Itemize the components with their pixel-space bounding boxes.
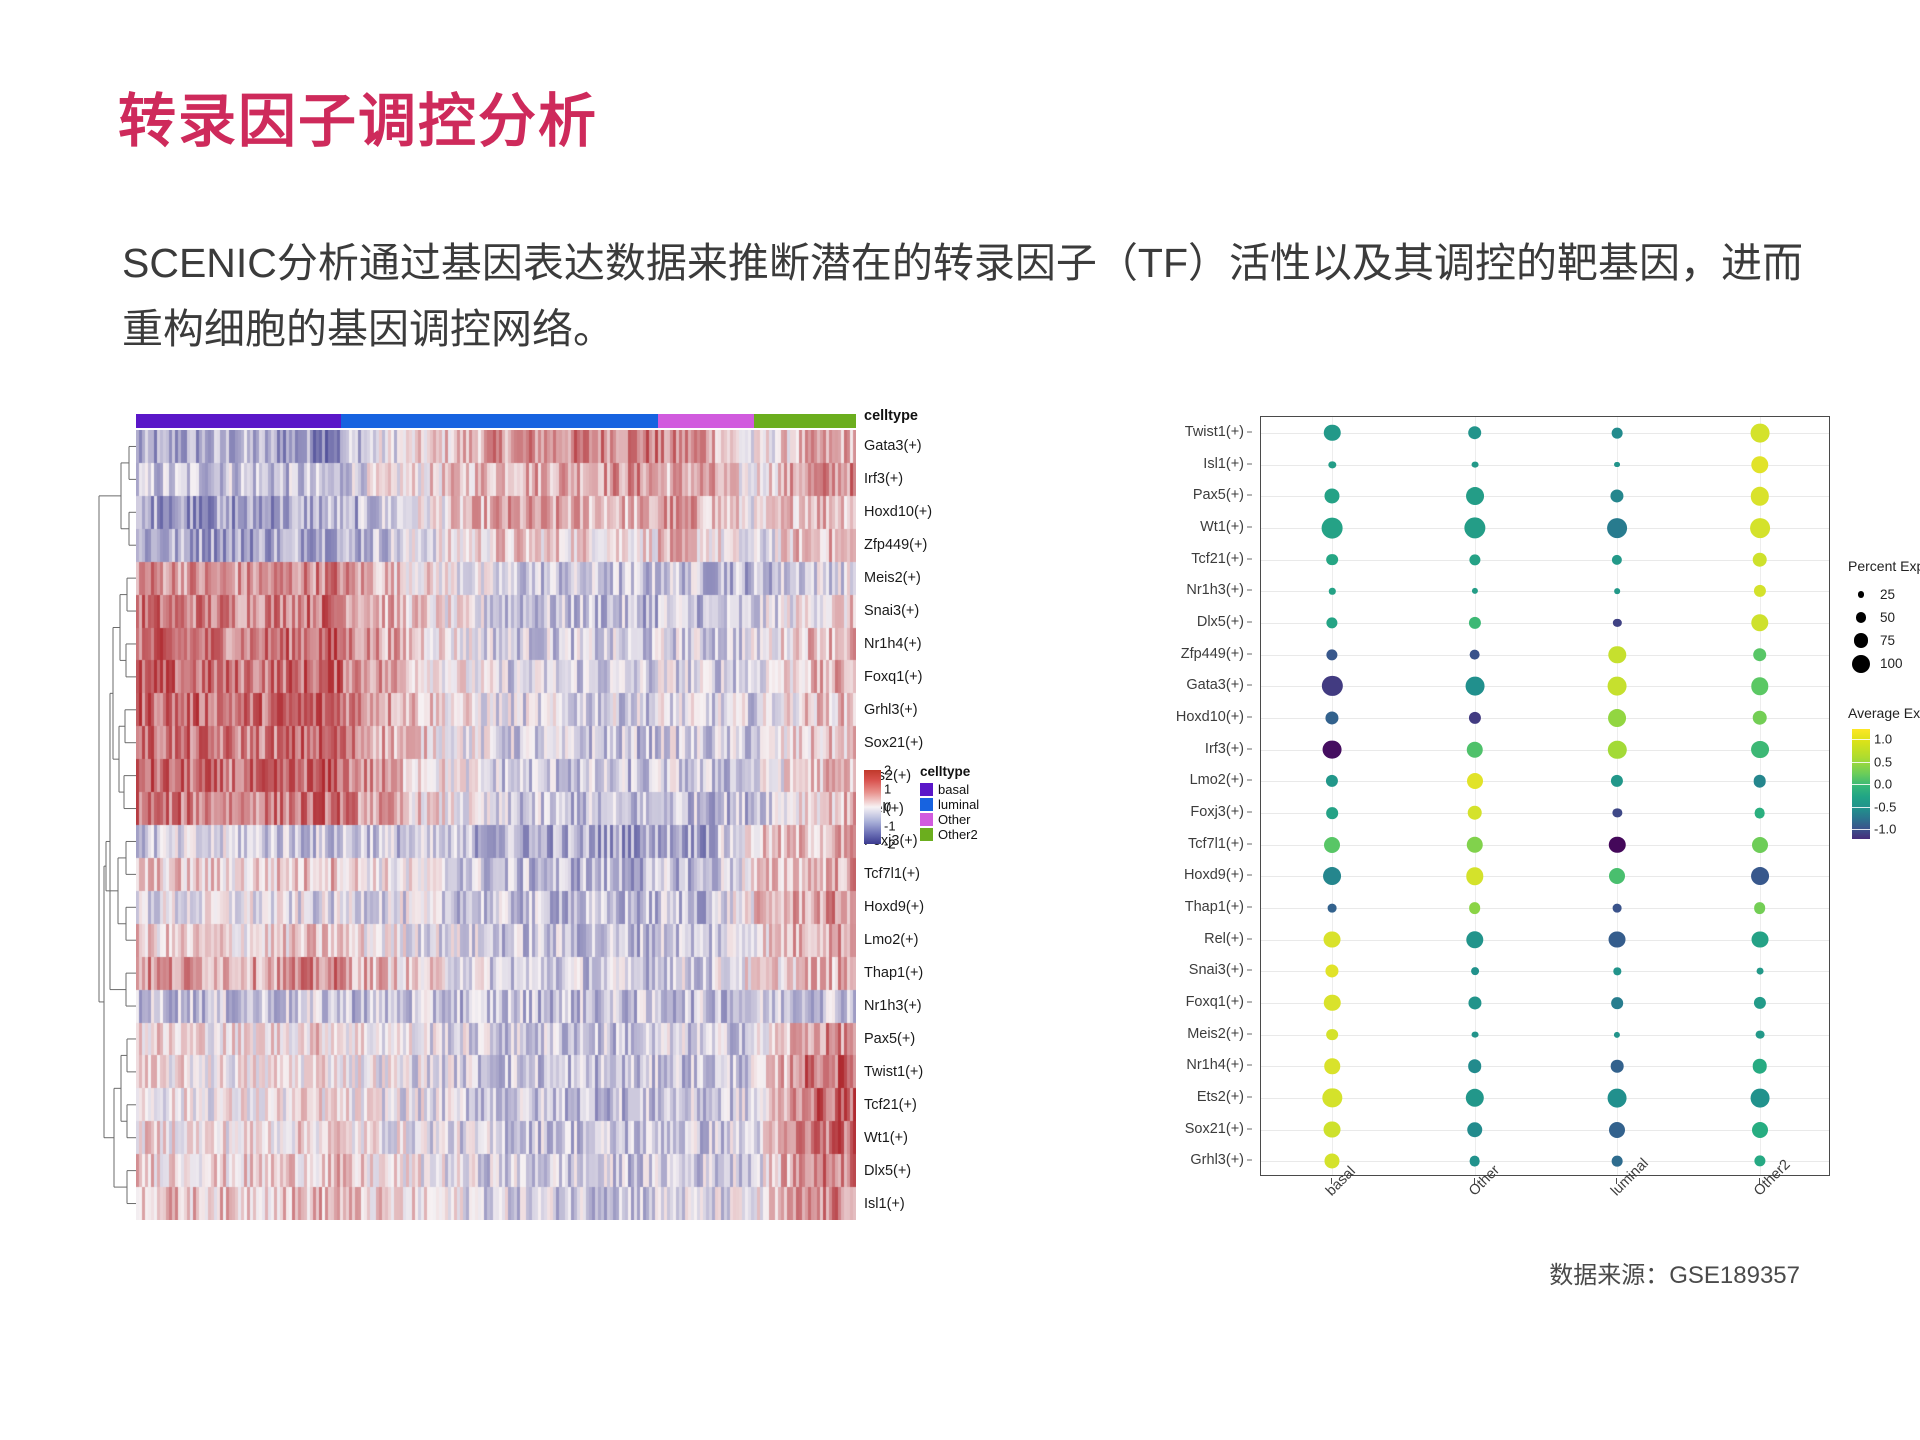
dotplot-gridline [1261,1161,1829,1162]
dotplot-dot [1612,1156,1623,1167]
dotplot-gridline [1261,781,1829,782]
dotplot-y-tick [1247,621,1252,622]
dotplot-dot [1329,588,1335,594]
dotplot-gridline [1261,655,1829,656]
dotplot-dot [1324,1058,1340,1074]
dotplot-y-label: Rel(+) [1204,931,1244,947]
dotplot-dot [1609,646,1626,663]
dotplot-y-label: Pax5(+) [1193,487,1244,503]
heatmap-gradient-bar [864,770,881,844]
average-expression-tick: -1.0 [1874,822,1896,837]
dotplot-dot [1464,517,1485,538]
dotplot-dot [1466,867,1483,884]
dotplot-dot [1466,487,1484,505]
dotplot-gridline [1261,528,1829,529]
dotplot-y-label: Isl1(+) [1203,456,1244,472]
average-expression-tick: 0.0 [1874,777,1892,792]
heatmap-row-label: Zfp449(+) [864,537,927,553]
average-expression-tickmark [1852,807,1870,808]
dotplot-dot [1754,807,1765,818]
dotplot-dot [1607,518,1627,538]
dotplot-dot [1324,837,1340,853]
percent-expressed-dot-wrap [1848,591,1874,598]
heatmap-row-label: Meis2(+) [864,570,921,586]
dotplot-y-tick [1247,431,1252,432]
dotplot-gridline [1261,1130,1829,1131]
average-expression-tickmark [1852,784,1870,785]
dotplot-dot [1754,585,1766,597]
dotplot-dot [1328,903,1337,912]
dotplot-dot [1465,677,1484,696]
average-expression-tick: 0.5 [1874,754,1892,769]
dotplot-y-label: Lmo2(+) [1190,772,1244,788]
dotplot-y-tick [1247,970,1252,971]
percent-expressed-item: 75 [1848,629,1920,652]
percent-expressed-dot [1856,612,1867,623]
percent-expressed-value: 75 [1880,633,1895,648]
dotplot-gridline [1261,940,1829,941]
dotplot-y-tick [1247,811,1252,812]
dotplot-dot [1614,967,1621,974]
dotplot-dot [1467,741,1483,757]
dotplot-dot [1609,931,1626,948]
dotplot-gridline [1261,560,1829,561]
dotplot-dot [1756,968,1763,975]
dotplot-dot [1608,1088,1627,1107]
dotplot-gridline [1261,1098,1829,1099]
heatmap-row-label: Gata3(+) [864,438,922,454]
dotplot-gridline [1261,845,1829,846]
dotplot-gridline [1261,1066,1829,1067]
heatmap-row-label: Sox21(+) [864,735,923,751]
dotplot-gridline [1261,433,1829,434]
dotplot-gridline [1261,686,1829,687]
dotplot-dot [1609,1122,1625,1138]
dotplot-dot [1329,461,1336,468]
dotplot-dot [1612,554,1622,564]
dotplot-dot [1467,806,1482,821]
dotplot-dot [1325,489,1340,504]
dotplot-dot [1613,808,1622,817]
percent-expressed-value: 100 [1880,656,1903,671]
dotplot-y-label: Meis2(+) [1187,1026,1244,1042]
dotplot-dot [1750,423,1769,442]
dotplot-dot [1611,997,1623,1009]
dotplot-dot [1324,995,1340,1011]
dotplot-dot [1611,1060,1624,1073]
dotplot-dot [1326,711,1339,724]
dotplot-dot [1327,617,1338,628]
heatmap-scale-tick: 1 [884,781,891,796]
dotplot-gridline [1261,591,1829,592]
average-expression-tickmark [1852,739,1870,740]
percent-expressed-legend-title: Percent Expressed [1848,558,1920,574]
heatmap-scale-tick: 2 [884,763,891,778]
dotplot-dot [1468,426,1482,440]
dotplot-gridline [1261,496,1829,497]
celltype-swatch [920,798,933,811]
dotplot-y-label: Tcf7l1(+) [1188,836,1244,852]
dotplot-y-label: Foxj3(+) [1190,804,1244,820]
dotplot-dot [1613,619,1621,627]
dotplot-dot [1467,1122,1483,1138]
dotplot-y-label: Dlx5(+) [1197,614,1244,630]
dotplot-dot [1323,867,1341,885]
percent-expressed-dot-wrap [1848,612,1874,623]
dotplot-dot [1466,931,1483,948]
dotplot-dot [1467,773,1483,789]
dotplot-dot [1750,518,1770,538]
heatmap-row-label: Nr1h4(+) [864,636,922,652]
percent-expressed-dot [1852,655,1870,673]
dotplot-y-tick [1247,590,1252,591]
dotplot-y-tick [1247,875,1252,876]
dotplot-dot [1609,868,1625,884]
heatmap-row-label: Dlx5(+) [864,1163,911,1179]
average-expression-tickmark [1852,762,1870,763]
dotplot-y-label: Hoxd10(+) [1176,709,1244,725]
dotplot-dot [1752,552,1767,567]
celltype-band-Other [658,414,754,428]
celltype-band-luminal [341,414,658,428]
celltype-band-basal [136,414,341,428]
celltype-swatch [920,828,933,841]
heatmap-row-label: Wt1(+) [864,1130,908,1146]
dotplot-y-tick [1247,843,1252,844]
dotplot-dot [1614,462,1620,468]
dotplot-dot [1471,1031,1478,1038]
percent-expressed-legend-items: 255075100 [1848,583,1920,675]
heatmap-scale-legend: 210-1-2 celltype basalluminalOtherOther2 [864,764,1014,884]
dotplot-dot [1752,1122,1768,1138]
dotplot-y-tick [1247,1096,1252,1097]
heatmap-row-label: Grhl3(+) [864,702,918,718]
dotplot-y-label: Snai3(+) [1189,962,1244,978]
percent-expressed-dot-wrap [1848,655,1874,673]
celltype-band-Other2 [754,414,856,428]
heatmap-row-label: Hoxd9(+) [864,899,924,915]
celltype-legend-label: luminal [938,797,979,812]
dotplot-y-tick [1247,1160,1252,1161]
heatmap-row-label: Pax5(+) [864,1031,915,1047]
dotplot-gridline [1261,1003,1829,1004]
percent-expressed-value: 25 [1880,587,1895,602]
percent-expressed-item: 50 [1848,606,1920,629]
average-expression-legend: 1.00.50.0-0.5-1.0 [1848,729,1920,849]
celltype-legend-item: luminal [920,797,979,812]
row-dendrogram [96,430,136,1220]
dotplot-dot [1471,967,1479,975]
dotplot-y-tick [1247,463,1252,464]
heatmap-row-label: Foxq1(+) [864,669,922,685]
heatmap-scale-tick: -1 [884,818,896,833]
figure-area: celltype Gata3(+)Irf3(+)Hoxd10(+)Zfp449(… [0,408,1920,1288]
dotplot-gridline [1261,876,1829,877]
dotplot-plot-area [1260,416,1830,1176]
dotplot-panel: Twist1(+)Isl1(+)Pax5(+)Wt1(+)Tcf21(+)Nr1… [1100,408,1900,1288]
dotplot-y-tick [1247,495,1252,496]
dotplot-y-label: Irf3(+) [1205,741,1244,757]
percent-expressed-dot [1858,591,1865,598]
dotplot-dot [1471,461,1478,468]
dotplot-dot [1752,711,1767,726]
heatmap-row-label: Snai3(+) [864,603,919,619]
dotplot-dot [1466,1089,1484,1107]
dotplot-dot [1614,588,1620,594]
dotplot-y-label: Nr1h4(+) [1186,1057,1244,1073]
dotplot-y-tick [1247,938,1252,939]
dotplot-dot [1326,807,1338,819]
heatmap-matrix [136,430,856,1220]
dotplot-gridline [1261,971,1829,972]
dotplot-gridline [1261,813,1829,814]
dotplot-dot [1322,517,1343,538]
heatmap-row-label: Hoxd10(+) [864,504,932,520]
dotplot-dot [1611,490,1624,503]
celltype-legend: celltype basalluminalOtherOther2 [920,764,979,842]
dotplot-dot [1326,1029,1338,1041]
source-note: 数据来源：GSE189357 [1549,1255,1800,1290]
dotplot-dot [1752,1059,1767,1074]
dotplot-dot [1751,487,1769,505]
dotplot-dot [1751,456,1768,473]
dotplot-dot [1324,931,1341,948]
average-expression-tick: -0.5 [1874,799,1896,814]
dotplot-y-tick [1247,1065,1252,1066]
dotplot-gridline [1261,718,1829,719]
dotplot-dot [1469,554,1480,565]
heatmap-panel: celltype Gata3(+)Irf3(+)Hoxd10(+)Zfp449(… [96,408,1016,1248]
dotplot-dot [1751,931,1768,948]
dotplot-dot [1751,614,1768,631]
dotplot-dot [1324,1121,1341,1138]
percent-expressed-item: 25 [1848,583,1920,606]
dotplot-dot [1469,617,1481,629]
dotplot-y-label: Grhl3(+) [1190,1152,1244,1168]
dotplot-y-label: Gata3(+) [1186,677,1244,693]
dotplot-y-axis: Twist1(+)Isl1(+)Pax5(+)Wt1(+)Tcf21(+)Nr1… [1100,416,1252,1176]
dotplot-dot [1468,996,1481,1009]
dotplot-dot [1753,648,1767,662]
dotplot-y-label: Ets2(+) [1197,1089,1244,1105]
dotplot-y-tick [1247,558,1252,559]
dotplot-y-tick [1247,1001,1252,1002]
celltype-legend-item: basal [920,782,979,797]
dotplot-dot [1753,775,1766,788]
dotplot-dot [1325,1154,1340,1169]
dotplot-dot [1751,677,1768,694]
page-title: 转录因子调控分析 [118,74,598,158]
dotplot-dot [1324,425,1340,441]
dotplot-y-tick [1247,716,1252,717]
dotplot-dot [1755,1030,1764,1039]
celltype-legend-item: Other [920,812,979,827]
dotplot-dot [1468,1059,1482,1073]
dotplot-dot [1472,588,1478,594]
dotplot-dot [1322,676,1342,696]
celltype-legend-label: Other [938,812,971,827]
slide-subtitle: SCENIC分析通过基因表达数据来推断潜在的转录因子（TF）活性以及其调控的靶基… [122,230,1812,363]
dotplot-y-label: Sox21(+) [1185,1121,1244,1137]
dotplot-dot [1609,836,1625,852]
heatmap-row-label: Thap1(+) [864,965,923,981]
dotplot-dot [1469,712,1481,724]
heatmap-row-label: Lmo2(+) [864,932,918,948]
heatmap-row-label: Tcf21(+) [864,1097,917,1113]
dotplot-y-label: Foxq1(+) [1186,994,1244,1010]
dotplot-y-label: Hoxd9(+) [1184,867,1244,883]
heatmap-row-label: Twist1(+) [864,1064,923,1080]
dotplot-legends: Percent Expressed 255075100 Average Expr… [1848,558,1920,849]
celltype-swatch [920,813,933,826]
average-expression-tickmark [1852,829,1870,830]
dotplot-y-label: Thap1(+) [1185,899,1244,915]
dotplot-y-label: Twist1(+) [1185,424,1244,440]
celltype-swatch [920,783,933,796]
average-expression-tick: 1.0 [1874,732,1892,747]
dotplot-dot [1469,1156,1480,1167]
dotplot-dot [1754,902,1766,914]
dotplot-y-tick [1247,780,1252,781]
dotplot-dot [1327,649,1338,660]
celltype-annotation-label: celltype [864,408,918,424]
dotplot-gridline [1261,750,1829,751]
average-expression-legend-title: Average Expression [1848,705,1920,721]
dotplot-y-label: Nr1h3(+) [1186,582,1244,598]
heatmap-scale-tick: -2 [884,837,896,852]
dotplot-dot [1469,649,1480,660]
dotplot-dot [1614,1031,1620,1037]
dotplot-dot [1608,677,1627,696]
heatmap-scale-tick: 0 [884,800,891,815]
dotplot-y-tick [1247,685,1252,686]
dotplot-dot [1750,1088,1769,1107]
dotplot-dot [1608,709,1626,727]
dotplot-y-tick [1247,1128,1252,1129]
celltype-legend-title: celltype [920,764,979,779]
celltype-annotation-bar [136,414,856,428]
dotplot-gridline [1261,908,1829,909]
dotplot-dot [1611,775,1623,787]
celltype-legend-label: basal [938,782,969,797]
heatmap-row-label: Isl1(+) [864,1196,905,1212]
dotplot-dot [1751,741,1769,759]
percent-expressed-dot [1854,633,1868,647]
dotplot-dot [1754,997,1766,1009]
dotplot-gridline [1261,623,1829,624]
dotplot-dot [1613,903,1622,912]
dotplot-y-label: Tcf21(+) [1191,551,1244,567]
celltype-legend-label: Other2 [938,827,978,842]
dotplot-dot [1754,1156,1765,1167]
dotplot-dot [1326,554,1338,566]
dotplot-gridline [1261,465,1829,466]
percent-expressed-value: 50 [1880,610,1895,625]
dotplot-dot [1326,775,1338,787]
dotplot-y-tick [1247,906,1252,907]
heatmap-row-label: Nr1h3(+) [864,998,922,1014]
dotplot-dot [1469,902,1481,914]
heatmap-row-label: Irf3(+) [864,471,903,487]
percent-expressed-dot-wrap [1848,633,1874,647]
dotplot-y-label: Zfp449(+) [1181,646,1244,662]
percent-expressed-item: 100 [1848,652,1920,675]
dotplot-y-tick [1247,748,1252,749]
dotplot-gridline [1261,1035,1829,1036]
dotplot-dot [1467,836,1483,852]
dotplot-y-tick [1247,653,1252,654]
dotplot-dot [1612,427,1623,438]
dotplot-y-tick [1247,1033,1252,1034]
dotplot-y-label: Wt1(+) [1200,519,1244,535]
celltype-legend-items: basalluminalOtherOther2 [920,782,979,842]
dotplot-dot [1608,740,1626,758]
dotplot-dot [1323,740,1342,759]
dotplot-dot [1751,867,1769,885]
dotplot-dot [1326,965,1339,978]
celltype-legend-item: Other2 [920,827,979,842]
dotplot-dot [1752,837,1768,853]
dotplot-y-tick [1247,526,1252,527]
dotplot-dot [1323,1088,1342,1107]
